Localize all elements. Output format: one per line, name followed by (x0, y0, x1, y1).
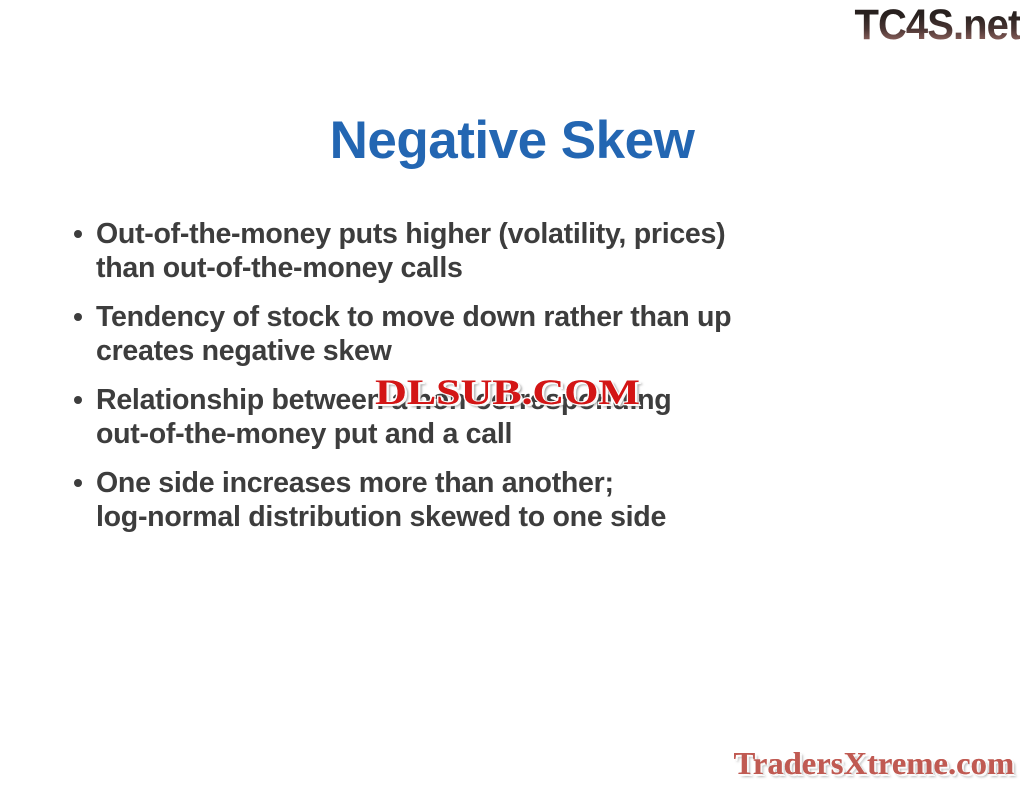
list-item-text: Out-of-the-money puts higher (volatility… (96, 217, 949, 285)
list-item: Relationship between a non-corresponding… (62, 383, 962, 451)
brand-logo-tc4s: TC4S.net (828, 1, 1020, 49)
list-item-text: Relationship between a non-corresponding… (96, 383, 949, 451)
page-title: Negative Skew (0, 110, 1024, 172)
footer-logo-tradersxtreme: TradersXtreme.com TradersXtreme.com (700, 742, 1014, 784)
bullet-list: Out-of-the-money puts higher (volatility… (62, 217, 962, 549)
bullet-marker-icon (62, 217, 96, 238)
list-item: Tendency of stock to move down rather th… (62, 300, 962, 368)
list-item: Out-of-the-money puts higher (volatility… (62, 217, 962, 285)
bullet-marker-icon (62, 383, 96, 404)
list-item: One side increases more than another; lo… (62, 466, 962, 534)
brand-logo-text: TC4S.net (854, 4, 1020, 47)
footer-logo-fill: TradersXtreme.com (733, 746, 1014, 780)
presentation-slide: TC4S.net Negative Skew Out-of-the-money … (0, 0, 1024, 791)
list-item-text: Tendency of stock to move down rather th… (96, 300, 949, 368)
bullet-marker-icon (62, 300, 96, 321)
bullet-marker-icon (62, 466, 96, 487)
list-item-text: One side increases more than another; lo… (96, 466, 949, 534)
